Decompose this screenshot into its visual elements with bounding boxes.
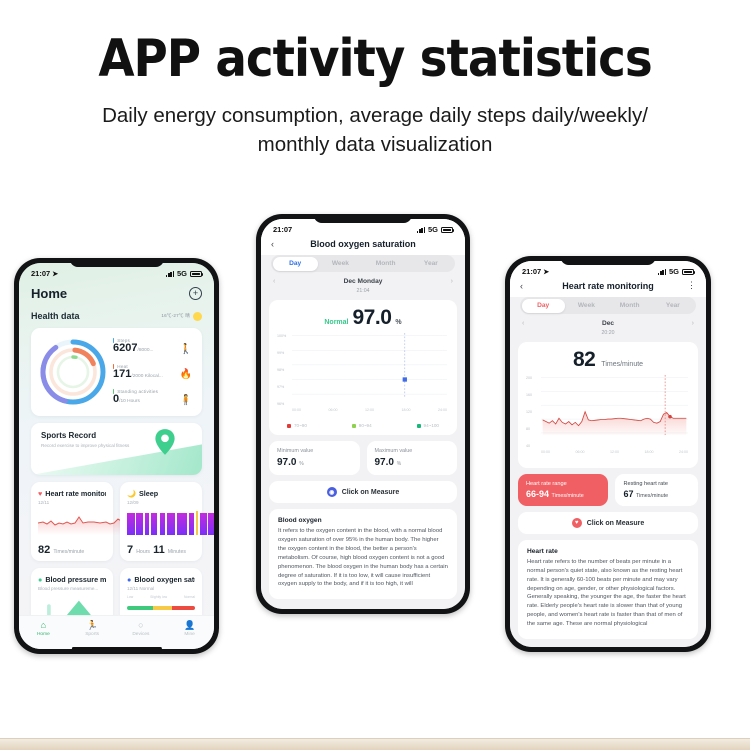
battery-icon: [682, 269, 694, 275]
spo2-xtick-0: 00:00: [292, 408, 301, 419]
spo2-x-axis: 00:00 06:00 12:00 18:00 24:00: [292, 408, 447, 419]
hr-info-body: Heart rate refers to the number of beats…: [527, 558, 689, 629]
walking-person-icon: 🚶: [180, 345, 192, 355]
spo2-minimum-label: Minimum value: [277, 448, 352, 455]
spo2-minmax-row: Minimum value 97.0 % Maximum value 97.0 …: [269, 441, 457, 475]
health-data-card[interactable]: Steps 6207/8000... 🚶 Heat 171/2000 Kiloc…: [31, 328, 202, 416]
sleep-card[interactable]: 🌙 Sleep 12/09: [120, 482, 202, 561]
sun-icon: [193, 312, 202, 321]
hr-range-label: Heart rate range: [526, 481, 600, 487]
hr-ytick-0: 200: [526, 376, 532, 380]
spo2-legend: 70~90 90~94 94~100: [277, 419, 449, 428]
activity-rings: [37, 336, 109, 408]
heart-rate-card[interactable]: ♥ Heart rate monitorin 12/11 82 Times/mi…: [31, 482, 113, 561]
phone-right-screen: 21:07 ➤ 5G ‹ Heart rate monitoring ⋮ Day…: [510, 261, 706, 647]
home-icon: ⌂: [41, 621, 46, 630]
metric-steps-unit: /8000...: [137, 348, 153, 353]
location-arrow-icon: ➤: [543, 268, 549, 276]
date-prev-icon[interactable]: ‹: [273, 278, 275, 285]
sleep-card-date: 12/09: [127, 500, 195, 505]
bo-tick-mid: Slightly low: [150, 595, 167, 599]
status-time: 21:07: [273, 225, 292, 234]
spo2-info-heading: Blood oxygen: [278, 517, 448, 524]
hr-resting-unit: Times/minute: [636, 493, 668, 499]
segment-week[interactable]: Week: [565, 299, 608, 313]
hr-range-unit: Times/minute: [552, 493, 584, 499]
spo2-maximum-value: 97.0: [375, 457, 394, 468]
flame-icon: 🔥: [180, 370, 192, 380]
blood-oxygen-card-date: 12/11 Normal: [127, 586, 195, 591]
hr-ytick-2: 120: [526, 410, 532, 414]
screen-title: Blood oxygen saturation: [283, 239, 443, 249]
hr-xtick-3: 18:00: [645, 450, 654, 461]
sleep-card-minutes-unit: Minutes: [168, 549, 186, 555]
spo2-xtick-4: 24:00: [438, 408, 447, 419]
page-title: APP activity statistics: [0, 32, 750, 87]
signal-bars-icon: [417, 227, 425, 233]
blood-oxygen-card-title: Blood oxygen satur: [134, 575, 195, 584]
metric-heat-unit: /2000 Kilocal...: [131, 374, 162, 379]
heart-rate-card-date: 12/11: [38, 500, 106, 505]
legend-label-low: 70~90: [294, 423, 307, 428]
hr-ytick-3: 80: [526, 427, 530, 431]
home-indicator[interactable]: [71, 647, 161, 650]
health-metrics: Steps 6207/8000... 🚶 Heat 171/2000 Kiloc…: [109, 336, 194, 408]
spo2-y-axis: 100% 99% 98% 97% 96%: [277, 333, 292, 407]
moon-icon: 🌙: [127, 489, 136, 498]
tab-mine[interactable]: 👤 Mine: [165, 621, 214, 637]
screen-title: Heart rate monitoring: [532, 281, 684, 291]
network-label: 5G: [669, 267, 679, 276]
metric-cards-row-1: ♥ Heart rate monitorin 12/11 82 Times/mi…: [31, 482, 202, 561]
bo-tick-low: Low: [127, 595, 133, 599]
person-icon: 👤: [184, 621, 195, 630]
metric-heat: Heat 171/2000 Kilocal... 🔥: [113, 364, 192, 381]
home-header: Home + Health data 16℃-27℃ 晴: [19, 280, 214, 321]
phone-right-heart-rate: 21:07 ➤ 5G ‹ Heart rate monitoring ⋮ Day…: [505, 256, 711, 652]
phone-mid-screen: 21:07 5G ‹ Blood oxygen saturation Day W…: [261, 219, 465, 609]
network-label: 5G: [428, 225, 438, 234]
phone-notch: [69, 258, 163, 267]
segment-week[interactable]: Week: [318, 257, 363, 271]
hr-xtick-1: 06:00: [576, 450, 585, 461]
spo2-xtick-3: 18:00: [402, 408, 411, 419]
phone-mid-blood-oxygen: 21:07 5G ‹ Blood oxygen saturation Day W…: [256, 214, 470, 614]
bo-tick-high: Normal: [184, 595, 195, 599]
spo2-info-block: Blood oxygen It refers to the oxygen con…: [269, 509, 457, 599]
hr-range-value: 66-94: [526, 489, 549, 499]
oxygen-drop-icon: ◉: [327, 487, 337, 497]
date-navigator: ‹ Dec ›: [510, 314, 706, 329]
spo2-ytick-0: 100%: [277, 334, 286, 338]
metric-heat-value: 171: [113, 368, 131, 380]
spo2-minimum-unit: %: [299, 461, 303, 467]
hr-info-heading: Heart rate: [527, 548, 689, 555]
segment-month[interactable]: Month: [608, 299, 651, 313]
spo2-ytick-1: 99%: [277, 351, 284, 355]
hr-xtick-0: 00:00: [541, 450, 550, 461]
tab-mine-label: Mine: [184, 632, 194, 637]
watch-icon: ○: [138, 621, 143, 630]
spo2-ytick-4: 96%: [277, 402, 284, 406]
hr-plot-area: [541, 375, 688, 435]
sports-icon: 🏃: [87, 621, 98, 630]
spo2-unit: %: [395, 319, 401, 326]
heart-rate-chart[interactable]: 200 160 120 80 40: [526, 375, 690, 461]
spo2-value: 97.0: [353, 307, 392, 328]
date-next-icon[interactable]: ›: [692, 320, 694, 327]
heart-rate-card-title: Heart rate monitorin: [45, 489, 106, 498]
status-time: 21:07: [522, 267, 541, 276]
hr-ytick-1: 160: [526, 393, 532, 397]
heart-icon: ♥: [572, 518, 582, 528]
heart-rate-summary-row: Heart rate range 66-94 Times/minute Rest…: [518, 474, 698, 506]
sleep-card-minutes: 11: [153, 544, 165, 556]
add-circle-icon[interactable]: +: [189, 287, 202, 300]
spo2-ytick-2: 98%: [277, 368, 284, 372]
blood-pressure-decoration: [38, 597, 120, 617]
health-data-label: Health data: [31, 311, 80, 321]
sports-record-card[interactable]: Sports Record Record exercise to improve…: [31, 423, 202, 475]
spo2-measure-label: Click on Measure: [342, 489, 400, 496]
back-icon[interactable]: ‹: [520, 281, 532, 291]
metric-steps-value: 6207: [113, 342, 137, 354]
subtitle-line-2: monthly data visualization: [258, 133, 493, 156]
spo2-info-body: It refers to the oxygen content in the b…: [278, 527, 448, 589]
bottom-tab-bar: ⌂ Home 🏃 Sports ○ Devices 👤 Mine: [19, 615, 214, 649]
battery-icon: [190, 271, 202, 277]
sleep-bar-chart: [127, 511, 214, 535]
sleep-card-title: Sleep: [139, 489, 158, 498]
spo2-maximum-card: Maximum value 97.0 %: [367, 441, 458, 475]
legend-label-high: 94~100: [424, 423, 439, 428]
period-segmented-control: Day Week Month Year: [271, 255, 455, 272]
more-vertical-icon[interactable]: ⋮: [684, 283, 696, 288]
weather-text: 16℃-27℃ 晴: [161, 313, 190, 319]
legend-item-high: 94~100: [417, 423, 439, 428]
hr-resting-label: Resting heart rate: [623, 481, 690, 487]
spo2-xtick-2: 12:00: [365, 408, 374, 419]
hr-xtick-4: 24:00: [679, 450, 688, 461]
date-label: Dec Monday: [344, 278, 383, 285]
blood-oxygen-tick-labels: Low Slightly low Normal: [127, 595, 195, 599]
hr-measure-label: Click on Measure: [587, 520, 645, 527]
hr-ytick-4: 40: [526, 444, 530, 448]
nav-bar: ‹ Blood oxygen saturation: [261, 236, 465, 255]
metric-standing: Standing activities 0/10 Hours 🧍: [113, 389, 192, 406]
blood-pressure-card-subtitle: Blood pressure measureme...: [38, 586, 106, 591]
map-pin-icon: [154, 429, 176, 455]
hr-resting-value: 67: [623, 489, 633, 499]
nav-bar: ‹ Heart rate monitoring ⋮: [510, 278, 706, 297]
sleep-card-hours: 7: [127, 544, 133, 556]
date-next-icon[interactable]: ›: [451, 278, 453, 285]
hr-x-axis: 00:00 06:00 12:00 18:00 24:00: [541, 450, 688, 461]
tab-devices-label: Devices: [132, 632, 149, 637]
resting-heart-rate-card: Resting heart rate 67 Times/minute: [615, 474, 698, 506]
reading-time: 21:04: [261, 288, 465, 294]
spo2-reading-card: Normal 97.0 % 100% 99% 98% 97% 96%: [269, 300, 457, 435]
legend-item-low: 70~90: [287, 423, 307, 428]
heart-rate-range-card: Heart rate range 66-94 Times/minute: [518, 474, 608, 506]
network-label: 5G: [177, 269, 187, 278]
heart-rate-card-unit: Times/minute: [53, 549, 84, 555]
hr-xtick-2: 12:00: [610, 450, 619, 461]
home-title: Home: [31, 286, 67, 301]
spo2-chart[interactable]: 100% 99% 98% 97% 96%: [277, 333, 449, 419]
spo2-plot-area: [292, 333, 447, 397]
legend-label-mid: 90~94: [359, 423, 372, 428]
status-time: 21:07: [31, 269, 50, 278]
tab-home[interactable]: ⌂ Home: [19, 621, 68, 637]
hero-section: APP activity statistics Daily energy con…: [0, 32, 750, 160]
blood-oxygen-screen: 21:07 5G ‹ Blood oxygen saturation Day W…: [261, 219, 465, 609]
drop-blue-icon: ●: [127, 575, 131, 584]
metric-standing-unit: /10 Hours: [119, 399, 140, 404]
date-label: Dec: [602, 320, 614, 327]
reading-time: 20:20: [510, 330, 706, 336]
heart-rate-info-block: Heart rate Heart rate refers to the numb…: [518, 540, 698, 639]
tab-sports-label: Sports: [85, 632, 99, 637]
spo2-ytick-3: 97%: [277, 385, 284, 389]
spo2-status: Normal: [324, 319, 348, 326]
segment-day[interactable]: Day: [273, 257, 318, 271]
page-subtitle: Daily energy consumption, average daily …: [0, 101, 750, 160]
drop-green-icon: ●: [38, 575, 42, 584]
spo2-measure-button[interactable]: ◉ Click on Measure: [269, 481, 457, 503]
home-screen: 21:07 ➤ 5G Home + Health data 16℃-27: [19, 263, 214, 649]
standing-person-icon: 🧍: [180, 396, 192, 406]
subtitle-line-1: Daily energy consumption, average daily …: [102, 104, 648, 127]
phone-notch: [561, 256, 656, 265]
spo2-xtick-1: 06:00: [329, 408, 338, 419]
tab-sports[interactable]: 🏃 Sports: [68, 621, 117, 637]
heart-rate-value: 82: [573, 349, 595, 370]
legend-item-mid: 90~94: [352, 423, 372, 428]
tab-devices[interactable]: ○ Devices: [117, 621, 166, 637]
spo2-maximum-unit: %: [397, 461, 401, 467]
phone-notch: [314, 214, 412, 223]
segment-day[interactable]: Day: [522, 299, 565, 313]
battery-icon: [441, 227, 453, 233]
location-arrow-icon: ➤: [52, 270, 58, 278]
heart-rate-unit: Times/minute: [601, 361, 643, 368]
bottom-surface-strip: [0, 738, 750, 750]
weather-widget: 16℃-27℃ 晴: [161, 312, 202, 321]
segment-month[interactable]: Month: [363, 257, 408, 271]
metric-steps: Steps 6207/8000... 🚶: [113, 338, 192, 355]
heart-icon: ♥: [38, 489, 42, 498]
date-prev-icon[interactable]: ‹: [522, 320, 524, 327]
date-navigator: ‹ Dec Monday ›: [261, 272, 465, 287]
phone-left-home: 21:07 ➤ 5G Home + Health data 16℃-27: [14, 258, 219, 654]
hr-y-axis: 200 160 120 80 40: [526, 375, 541, 449]
period-segmented-control: Day Week Month Year: [520, 297, 696, 314]
segment-year[interactable]: Year: [651, 299, 694, 313]
heart-rate-reading-card: 82 Times/minute 200 160 120 80 40: [518, 342, 698, 468]
blood-pressure-card-title: Blood pressure mon: [45, 575, 106, 584]
sleep-card-hours-unit: Hours: [136, 549, 150, 555]
signal-bars-icon: [166, 271, 174, 277]
tab-home-label: Home: [37, 632, 50, 637]
spo2-minimum-card: Minimum value 97.0 %: [269, 441, 360, 475]
blood-oxygen-gradient-bar: [127, 606, 195, 610]
signal-bars-icon: [658, 269, 666, 275]
segment-year[interactable]: Year: [408, 257, 453, 271]
heart-rate-card-value: 82: [38, 544, 50, 556]
heart-rate-measure-button[interactable]: ♥ Click on Measure: [518, 512, 698, 534]
spo2-minimum-value: 97.0: [277, 457, 296, 468]
back-icon[interactable]: ‹: [271, 239, 283, 249]
heart-rate-sparkline: [38, 511, 128, 535]
phone-left-screen: 21:07 ➤ 5G Home + Health data 16℃-27: [19, 263, 214, 649]
heart-rate-screen: 21:07 ➤ 5G ‹ Heart rate monitoring ⋮ Day…: [510, 261, 706, 647]
spo2-maximum-label: Maximum value: [375, 448, 450, 455]
